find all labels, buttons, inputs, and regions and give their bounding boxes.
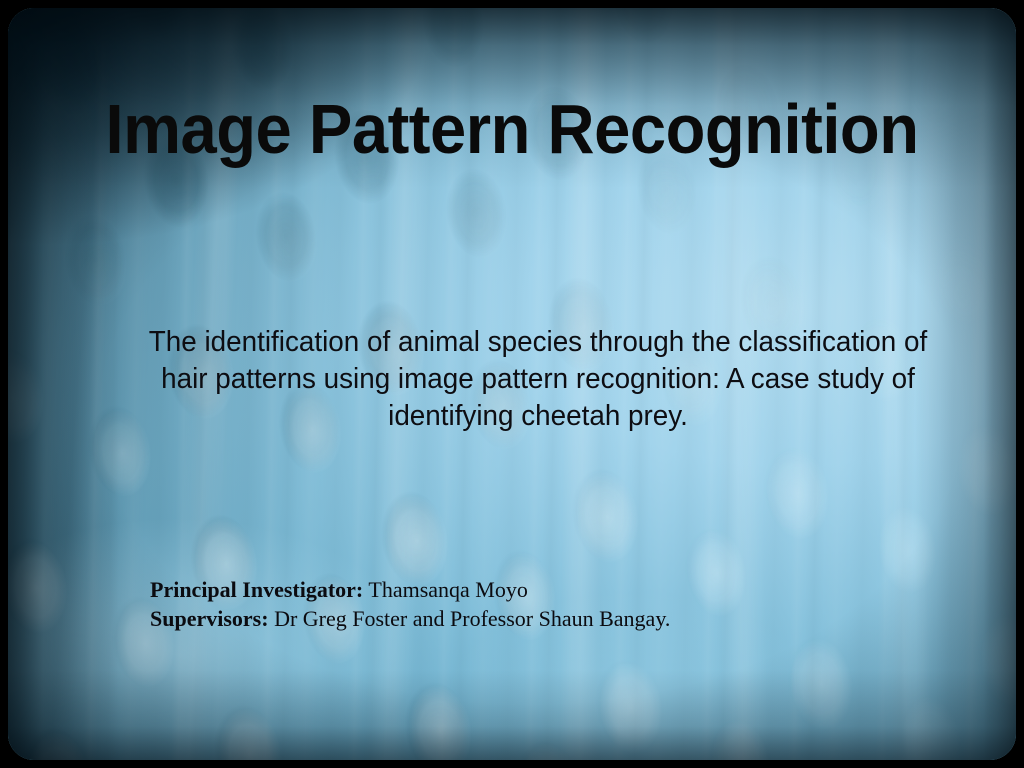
credits-block: Principal Investigator: Thamsanqa Moyo S… bbox=[150, 575, 890, 633]
credit-line-principal-investigator: Principal Investigator: Thamsanqa Moyo bbox=[150, 575, 890, 604]
slide-subtitle: The identification of animal species thr… bbox=[144, 324, 931, 435]
credit-label-supervisors: Supervisors: bbox=[150, 606, 269, 631]
credit-label-principal-investigator: Principal Investigator: bbox=[150, 577, 363, 602]
presentation-slide: Image Pattern Recognition The identifica… bbox=[0, 0, 1024, 768]
slide-surface: Image Pattern Recognition The identifica… bbox=[8, 8, 1016, 760]
credit-value-principal-investigator: Thamsanqa Moyo bbox=[368, 577, 527, 602]
slide-content: Image Pattern Recognition The identifica… bbox=[8, 8, 1016, 760]
slide-title: Image Pattern Recognition bbox=[43, 94, 980, 164]
credit-line-supervisors: Supervisors: Dr Greg Foster and Professo… bbox=[150, 604, 890, 633]
credit-value-supervisors: Dr Greg Foster and Professor Shaun Banga… bbox=[274, 606, 670, 631]
